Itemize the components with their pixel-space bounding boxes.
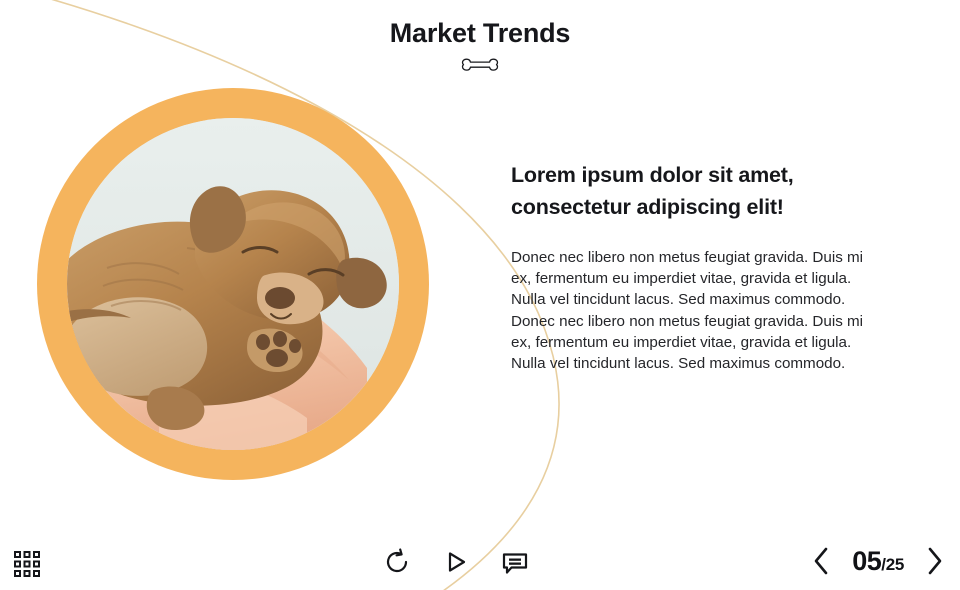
photo-ring: [37, 88, 429, 480]
refresh-icon: [385, 548, 411, 576]
page-counter: 05 /25: [852, 546, 904, 577]
play-icon: [443, 548, 469, 576]
replay-button[interactable]: [385, 548, 411, 576]
overview-grid-button[interactable]: [12, 549, 42, 579]
bone-icon: [458, 56, 502, 74]
chevron-right-icon: [922, 545, 946, 577]
play-button[interactable]: [443, 548, 469, 576]
content-headline: Lorem ipsum dolor sit amet, consectetur …: [511, 159, 881, 223]
page-title: Market Trends: [0, 18, 960, 49]
page-total: /25: [881, 555, 904, 575]
prev-slide-button[interactable]: [810, 545, 834, 577]
grid-icon: [12, 549, 42, 579]
comment-icon: [501, 548, 529, 576]
content-body: Donec nec libero non metus feugiat gravi…: [511, 247, 883, 374]
comment-button[interactable]: [501, 548, 529, 576]
page-current: 05: [852, 546, 881, 577]
playback-controls: [385, 548, 529, 576]
puppy-photo: [67, 118, 399, 450]
bone-icon-wrapper: [0, 56, 960, 74]
chevron-left-icon: [810, 545, 834, 577]
pagination: 05 /25: [810, 545, 946, 577]
presentation-slide: Market Trends: [0, 0, 960, 590]
next-slide-button[interactable]: [922, 545, 946, 577]
